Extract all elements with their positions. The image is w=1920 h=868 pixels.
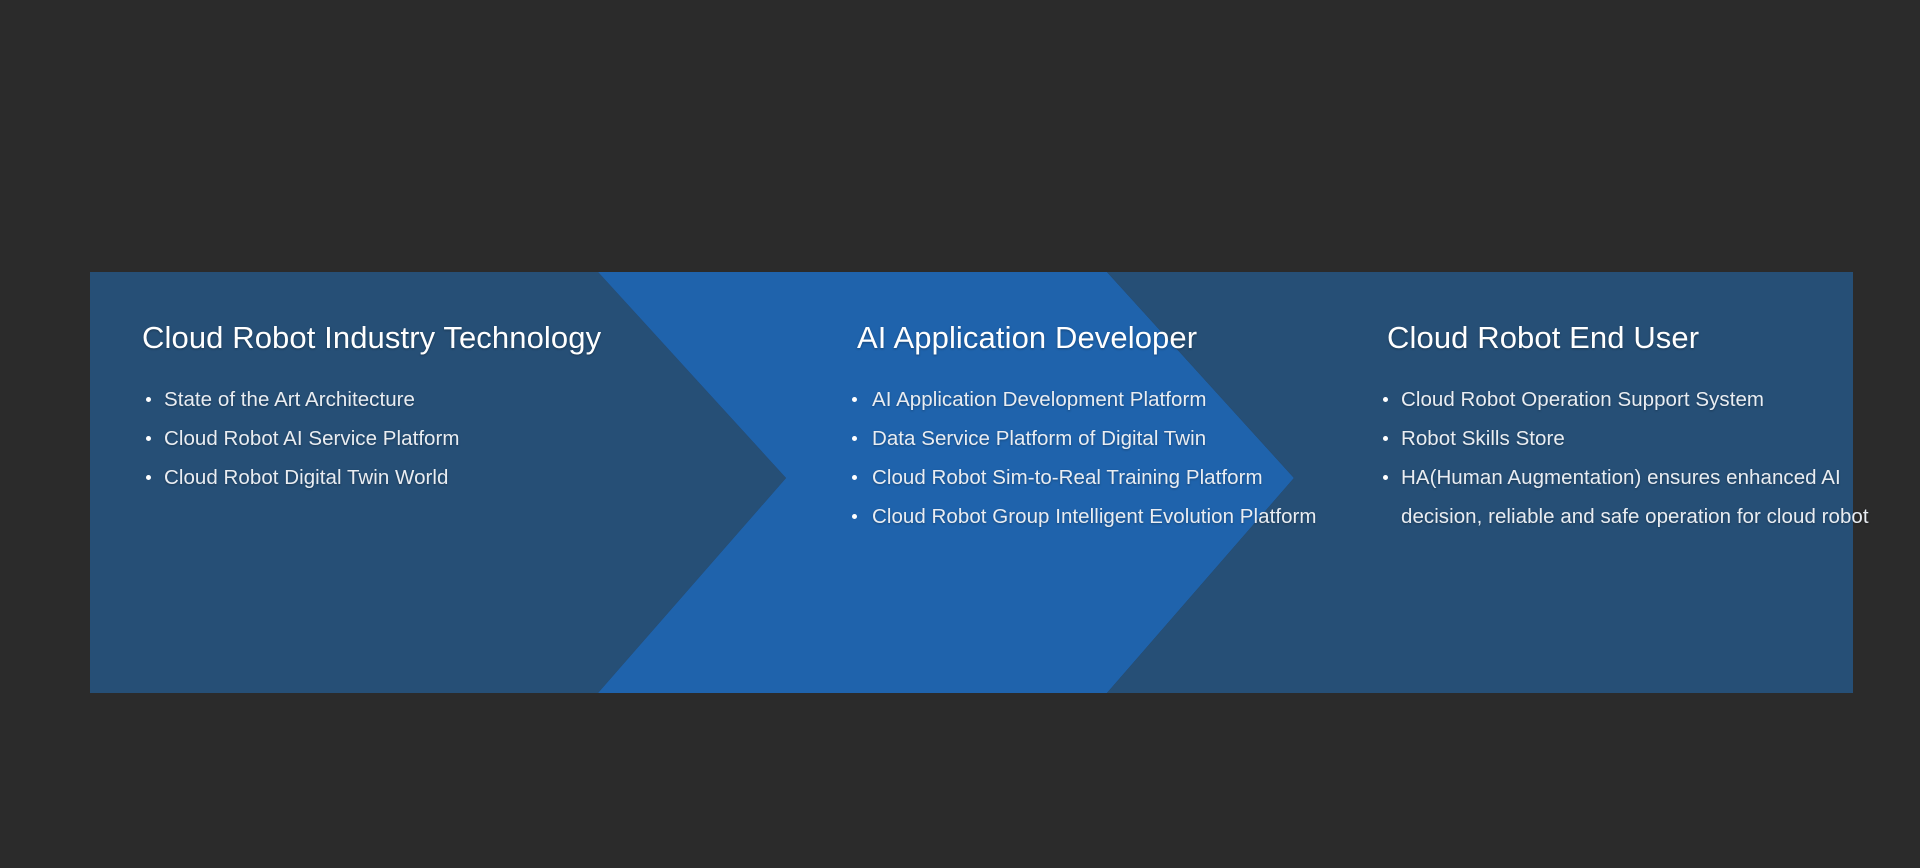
list-item: AI Application Development Platform xyxy=(850,380,1370,419)
chevron-banner: Cloud Robot Industry Technology State of… xyxy=(90,272,1853,693)
list-item: HA(Human Augmentation) ensures enhanced … xyxy=(1379,458,1869,536)
segment-1-bullet-list: State of the Art Architecture Cloud Robo… xyxy=(142,380,742,497)
list-item: Cloud Robot Operation Support System xyxy=(1379,380,1869,419)
slide-canvas: Cloud Robot Industry Technology State of… xyxy=(0,0,1920,868)
chevron-segment-2[interactable]: AI Application Developer AI Application … xyxy=(790,272,1297,693)
segment-1-title: Cloud Robot Industry Technology xyxy=(142,320,601,356)
list-item: Cloud Robot Sim-to-Real Training Platfor… xyxy=(850,458,1370,497)
segment-2-bullet-list: AI Application Development Platform Data… xyxy=(850,380,1370,536)
segment-2-title: AI Application Developer xyxy=(857,320,1197,356)
list-item: Cloud Robot Group Intelligent Evolution … xyxy=(850,497,1370,536)
segment-3-bullet-list: Cloud Robot Operation Support System Rob… xyxy=(1379,380,1869,536)
segment-3-title: Cloud Robot End User xyxy=(1387,320,1699,356)
list-item: Data Service Platform of Digital Twin xyxy=(850,419,1370,458)
chevron-segment-3[interactable]: Cloud Robot End User Cloud Robot Operati… xyxy=(1297,272,1853,693)
list-item: State of the Art Architecture xyxy=(142,380,742,419)
list-item: Robot Skills Store xyxy=(1379,419,1869,458)
chevron-segment-1[interactable]: Cloud Robot Industry Technology State of… xyxy=(90,272,790,693)
list-item: Cloud Robot AI Service Platform xyxy=(142,419,742,458)
list-item: Cloud Robot Digital Twin World xyxy=(142,458,742,497)
